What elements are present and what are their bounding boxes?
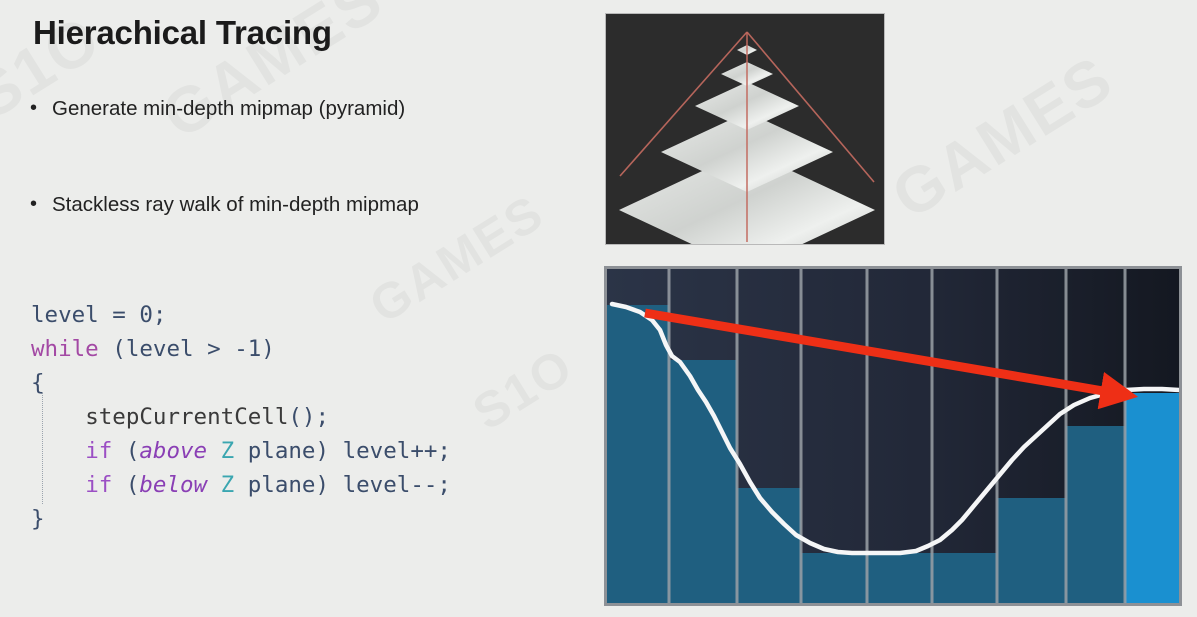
page-title: Hierachical Tracing — [33, 14, 332, 52]
code-token: level — [343, 472, 411, 498]
code-token: above — [139, 438, 207, 464]
pyramid-svg — [606, 14, 884, 244]
code-line: if (below Z plane) level--; — [31, 468, 451, 502]
mipmap-chart-svg — [607, 269, 1179, 603]
code-token: stepCurrentCell — [85, 404, 288, 430]
code-token: ; — [153, 302, 167, 328]
code-line: while (level > -1) — [31, 332, 451, 366]
code-token — [31, 404, 85, 430]
mipmap-cell-bar — [1066, 426, 1125, 603]
mipmap-raywalk-chart — [604, 266, 1182, 606]
code-line: level = 0; — [31, 298, 451, 332]
code-token: ++; — [410, 438, 451, 464]
code-token: > — [194, 336, 235, 362]
mipmap-cell-bar — [607, 305, 669, 603]
code-token: ( — [112, 438, 139, 464]
code-line: { — [31, 366, 451, 400]
mipmap-cell-bar — [997, 498, 1066, 603]
code-token — [207, 472, 221, 498]
code-token: ( — [99, 336, 126, 362]
slide-canvas: S1O GAMES GAMES GAMES S1O Hierachical Tr… — [0, 0, 1197, 617]
code-token: while — [31, 336, 99, 362]
bullet-item: • Generate min-depth mipmap (pyramid) — [30, 97, 405, 122]
code-token — [126, 302, 140, 328]
bullet-text: Stackless ray walk of min-depth mipmap — [52, 193, 419, 218]
code-token: below — [139, 472, 207, 498]
code-token: ( — [112, 472, 139, 498]
watermark: GAMES — [879, 41, 1126, 233]
mipmap-cell-bar — [932, 553, 997, 603]
code-token: level — [343, 438, 411, 464]
code-token: } — [31, 506, 45, 532]
code-token: Z — [221, 438, 235, 464]
code-token: = — [112, 302, 126, 328]
code-token — [31, 472, 85, 498]
code-token: Z — [221, 472, 235, 498]
mipmap-cell-bar — [801, 553, 867, 603]
code-token: plane — [234, 472, 315, 498]
bullet-item: • Stackless ray walk of min-depth mipmap — [30, 193, 419, 218]
bullet-marker-icon: • — [30, 97, 52, 119]
code-token — [207, 438, 221, 464]
code-token: level — [126, 336, 194, 362]
code-token: ) — [315, 438, 342, 464]
mipmap-cell-bar — [1125, 393, 1179, 603]
code-token: if — [85, 438, 112, 464]
code-token: (); — [288, 404, 329, 430]
mipmap-pyramid-image — [605, 13, 885, 245]
code-line: stepCurrentCell(); — [31, 400, 451, 434]
code-token: --; — [410, 472, 451, 498]
code-token: level — [31, 302, 99, 328]
code-token: ) — [261, 336, 275, 362]
code-token: plane — [234, 438, 315, 464]
code-token — [31, 438, 85, 464]
mipmap-cell-bar — [867, 553, 932, 603]
indent-guide — [42, 392, 44, 504]
code-line: if (above Z plane) level++; — [31, 434, 451, 468]
code-token: if — [85, 472, 112, 498]
code-block: level = 0;while (level > -1){ stepCurren… — [31, 298, 451, 536]
bullet-marker-icon: • — [30, 193, 52, 215]
code-line: } — [31, 502, 451, 536]
code-token: -1 — [234, 336, 261, 362]
code-token — [99, 302, 113, 328]
bullet-text: Generate min-depth mipmap (pyramid) — [52, 97, 405, 122]
watermark: S1O — [463, 336, 584, 441]
code-token: ) — [315, 472, 342, 498]
code-token: 0 — [139, 302, 153, 328]
